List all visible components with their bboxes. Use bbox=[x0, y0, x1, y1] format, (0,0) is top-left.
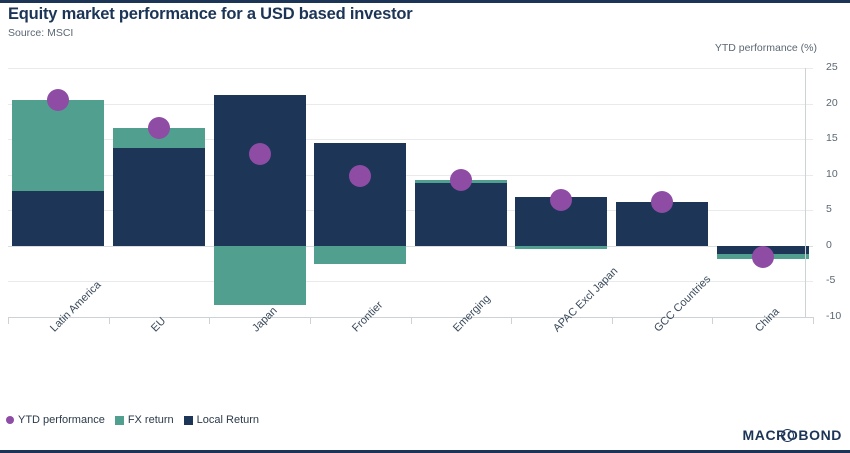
bar-segment-local-return[interactable] bbox=[415, 183, 507, 246]
ytd-performance-marker[interactable] bbox=[47, 89, 69, 111]
y-axis-tick-label: 15 bbox=[826, 132, 850, 144]
bar-group[interactable] bbox=[515, 68, 607, 317]
ytd-performance-marker[interactable] bbox=[651, 191, 673, 213]
x-axis-tick bbox=[8, 318, 9, 324]
y-axis-line bbox=[805, 68, 806, 318]
ytd-performance-marker[interactable] bbox=[249, 143, 271, 165]
macrobond-logo: MACROBOND bbox=[742, 427, 842, 443]
bar-group[interactable] bbox=[314, 68, 406, 317]
bar-group[interactable] bbox=[12, 68, 104, 317]
chart-canvas: YTD performance (%) 2520151050-5-10 Lati… bbox=[0, 0, 850, 453]
legend-swatch-circle-icon bbox=[6, 416, 14, 424]
bar-segment-local-return[interactable] bbox=[12, 191, 104, 246]
bar-segment-fx-return[interactable] bbox=[314, 246, 406, 264]
ytd-performance-marker[interactable] bbox=[349, 165, 371, 187]
bar-group[interactable] bbox=[113, 68, 205, 317]
y-axis-tick-label: 5 bbox=[826, 203, 850, 215]
y-axis-title: YTD performance (%) bbox=[715, 42, 817, 54]
legend-label: YTD performance bbox=[18, 414, 105, 426]
legend-label: Local Return bbox=[197, 414, 259, 426]
y-axis-tick-label: 20 bbox=[826, 97, 850, 109]
x-axis-tick bbox=[310, 318, 311, 324]
ytd-performance-marker[interactable] bbox=[550, 189, 572, 211]
x-axis-tick bbox=[411, 318, 412, 324]
legend-item[interactable]: YTD performance bbox=[6, 414, 105, 426]
plot-area: 2520151050-5-10 bbox=[8, 68, 813, 317]
ytd-performance-marker[interactable] bbox=[148, 117, 170, 139]
bar-group[interactable] bbox=[415, 68, 507, 317]
ytd-performance-marker[interactable] bbox=[450, 169, 472, 191]
y-axis-tick-label: 10 bbox=[826, 168, 850, 180]
bar-segment-local-return[interactable] bbox=[314, 143, 406, 246]
x-axis-tick bbox=[612, 318, 613, 324]
y-axis-tick-label: 25 bbox=[826, 61, 850, 73]
bar-segment-local-return[interactable] bbox=[214, 95, 306, 246]
x-axis-tick bbox=[813, 318, 814, 324]
logo-ring-icon bbox=[781, 429, 794, 442]
legend-item[interactable]: Local Return bbox=[184, 414, 259, 426]
x-axis-tick bbox=[712, 318, 713, 324]
y-axis-tick-label: -5 bbox=[826, 274, 850, 286]
bar-group[interactable] bbox=[214, 68, 306, 317]
x-axis-category-label: EU bbox=[149, 315, 168, 334]
bar-segment-fx-return[interactable] bbox=[214, 246, 306, 305]
ytd-performance-marker[interactable] bbox=[752, 246, 774, 268]
x-axis-tick bbox=[109, 318, 110, 324]
bar-segment-fx-return[interactable] bbox=[515, 246, 607, 250]
bar-group[interactable] bbox=[616, 68, 708, 317]
y-axis-tick-label: -10 bbox=[826, 310, 850, 322]
bar-segment-local-return[interactable] bbox=[113, 148, 205, 246]
x-axis-tick bbox=[511, 318, 512, 324]
bar-group[interactable] bbox=[717, 68, 809, 317]
y-axis-tick-label: 0 bbox=[826, 239, 850, 251]
legend-swatch-square-icon bbox=[184, 416, 193, 425]
bar-segment-fx-return[interactable] bbox=[12, 100, 104, 191]
chart-legend: YTD performanceFX returnLocal Return bbox=[6, 414, 259, 426]
legend-swatch-square-icon bbox=[115, 416, 124, 425]
x-axis-tick bbox=[209, 318, 210, 324]
legend-item[interactable]: FX return bbox=[115, 414, 174, 426]
legend-label: FX return bbox=[128, 414, 174, 426]
